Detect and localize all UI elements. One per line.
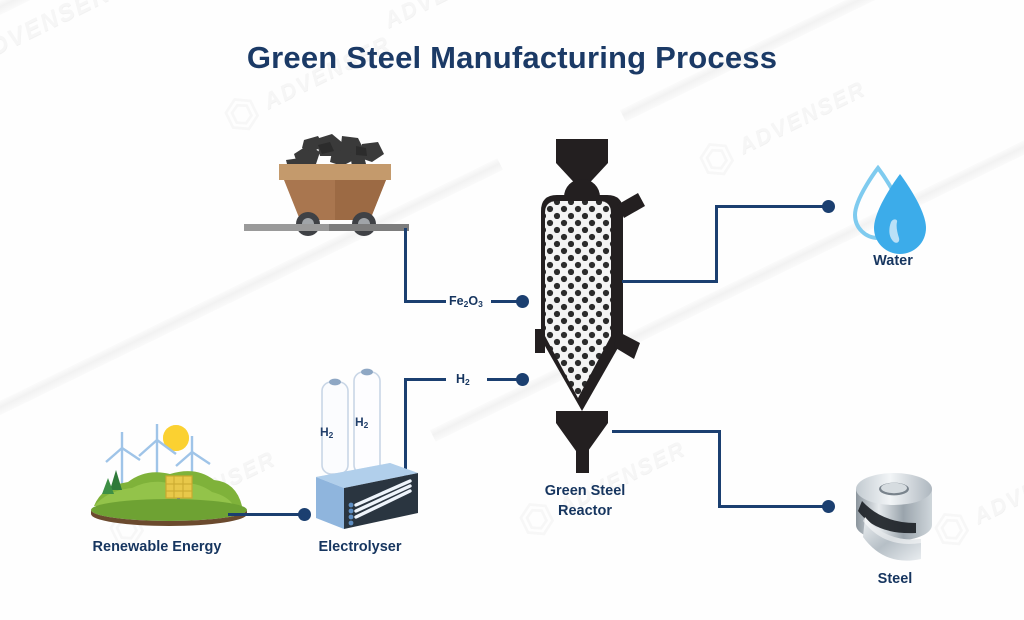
green-steel-reactor-icon xyxy=(518,135,653,475)
ore-cart-rail-shadow xyxy=(329,224,409,231)
connector-water-horizontal-upper xyxy=(715,205,825,208)
connector-water-horizontal-lower xyxy=(622,280,717,283)
steel-coil-icon xyxy=(848,465,940,565)
connector-fe2o3-vertical xyxy=(404,228,407,303)
water-droplet-icon xyxy=(848,160,938,260)
watermark: ADVENSER xyxy=(690,69,873,186)
connector-water-vertical xyxy=(715,205,718,283)
watermark-text: ADVENSER xyxy=(380,0,516,33)
connector-h2-horizontal-left xyxy=(404,378,446,381)
connector-fe2o3-horizontal-right xyxy=(491,300,519,303)
advenser-hex-logo-icon xyxy=(690,132,743,185)
page-title: Green Steel Manufacturing Process xyxy=(0,40,1024,76)
node-label-reactor: Green Steel Reactor xyxy=(500,482,670,521)
flow-label-fe2o3: Fe2O3 xyxy=(449,293,483,311)
node-label-steel: Steel xyxy=(845,570,945,590)
cylinder-label-h2-left: H2 xyxy=(320,425,333,440)
node-label-water: Water xyxy=(843,252,943,272)
connector-dot-steel xyxy=(822,500,835,513)
node-label-renewable-energy: Renewable Energy xyxy=(86,538,228,558)
watermark: ADVENSER xyxy=(380,0,516,33)
connector-steel-vertical xyxy=(718,430,721,508)
connector-renewable-horizontal xyxy=(228,513,303,516)
watermark-text: ADVENSER xyxy=(734,76,870,160)
mining-ore-cart-icon xyxy=(246,112,421,237)
cylinder-label-h2-right: H2 xyxy=(355,415,368,430)
diagram-canvas: ADVENSER ADVENSER ADVENSER ADVENSER xyxy=(0,0,1024,620)
connector-steel-horizontal-upper xyxy=(612,430,720,433)
connector-steel-horizontal-lower xyxy=(718,505,826,508)
connector-fe2o3-horizontal-left xyxy=(404,300,446,303)
connector-h2-horizontal-right xyxy=(487,378,519,381)
electrolyser-unit-icon xyxy=(304,455,424,535)
watermark-text: ADVENSER xyxy=(969,446,1024,530)
watermark-stripe xyxy=(0,0,469,32)
node-label-electrolyser: Electrolyser xyxy=(300,538,420,558)
connector-dot-water xyxy=(822,200,835,213)
flow-label-h2: H2 xyxy=(456,371,470,389)
